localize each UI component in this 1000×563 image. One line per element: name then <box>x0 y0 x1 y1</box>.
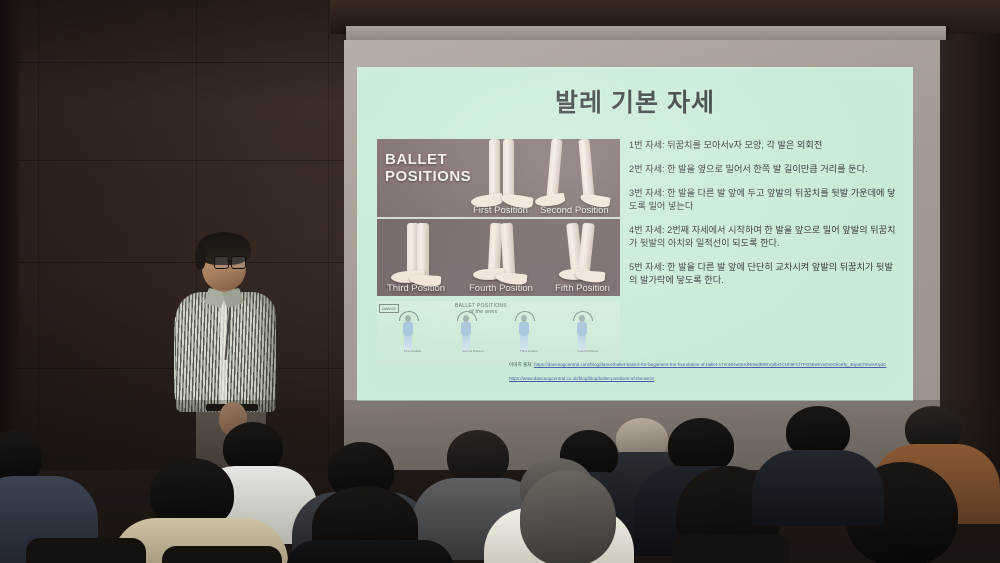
photo-label-second: Second Position <box>540 205 609 216</box>
photo-label-fourth: Fourth Position <box>469 283 533 294</box>
audience <box>0 400 1000 563</box>
slide-bullet-2: 2번 자세: 한 발을 옆으로 밀어서 한쪽 발 길이만큼 거리를 둔다. <box>629 163 901 176</box>
photo-label-third: Third Position <box>387 283 445 294</box>
chair-back <box>162 546 282 563</box>
glasses-icon <box>214 256 246 267</box>
sources-label: 이미지 출처: <box>509 362 533 367</box>
photo-brand: BALLET POSITIONS <box>385 151 505 185</box>
slide-bullet-list: 1번 자세: 뒤꿈치를 모아서v자 모양, 각 발은 외회전 2번 자세: 한 … <box>629 139 901 298</box>
presenter-sideburn <box>195 244 206 270</box>
arms-figure-2: Second Position <box>453 309 479 359</box>
photo-divider <box>377 217 620 219</box>
arms-figure-4: Fourth Position <box>569 309 595 359</box>
source-link-1[interactable]: https://danceagcentral.com/blog/dance/ba… <box>534 362 886 367</box>
slide-title: 발레 기본 자세 <box>357 83 913 119</box>
lecture-hall-scene: 발레 기본 자세 BALLET POSITIONS First Position… <box>0 0 1000 563</box>
source-link-2[interactable]: https://www.danceagcentral.co.uk/blog/bl… <box>509 376 654 381</box>
chair-back <box>26 538 146 563</box>
photo-brand-line2: POSITIONS <box>385 168 505 185</box>
slide-bullet-3: 3번 자세: 한 발을 다른 발 앞에 두고 앞발의 뒤꿈치를 뒷발 가운데에 … <box>629 187 901 213</box>
projected-slide: 발레 기본 자세 BALLET POSITIONS First Position… <box>357 67 913 401</box>
slide-bullet-1: 1번 자세: 뒤꿈치를 모아서v자 모양, 각 발은 외회전 <box>629 139 901 152</box>
photo-label-first: First Position <box>473 205 528 216</box>
slide-bullet-5: 5번 자세: 한 발을 다른 발 앞에 단단히 교차시켜 앞발의 뒤꿈치가 뒷발… <box>629 261 901 287</box>
arms-figure-2-caption: Second Position <box>462 349 484 353</box>
photo-brand-line1: BALLET <box>385 151 505 168</box>
ballet-positions-photo: BALLET POSITIONS First Position Second P… <box>377 139 620 296</box>
arms-figure-1-caption: First Position <box>404 349 421 353</box>
slide-sources: 이미지 출처: https://danceagcentral.com/blog/… <box>509 361 907 383</box>
arms-figure-1: First Position <box>395 309 421 359</box>
chair-back <box>672 534 790 563</box>
ballet-arms-diagram: DANCE BALLET POSITIONS of the arms First… <box>377 301 620 363</box>
photo-label-fifth: Fifth Position <box>555 283 610 294</box>
slide-bullet-4: 4번 자세: 2번째 자세에서 시작하여 한 발을 앞으로 밀어 앞발의 뒤꿈치… <box>629 224 901 250</box>
arms-figure-3: Third Position <box>511 309 537 359</box>
arms-figure-4-caption: Fourth Position <box>578 349 598 353</box>
arms-figure-3-caption: Third Position <box>520 349 538 353</box>
